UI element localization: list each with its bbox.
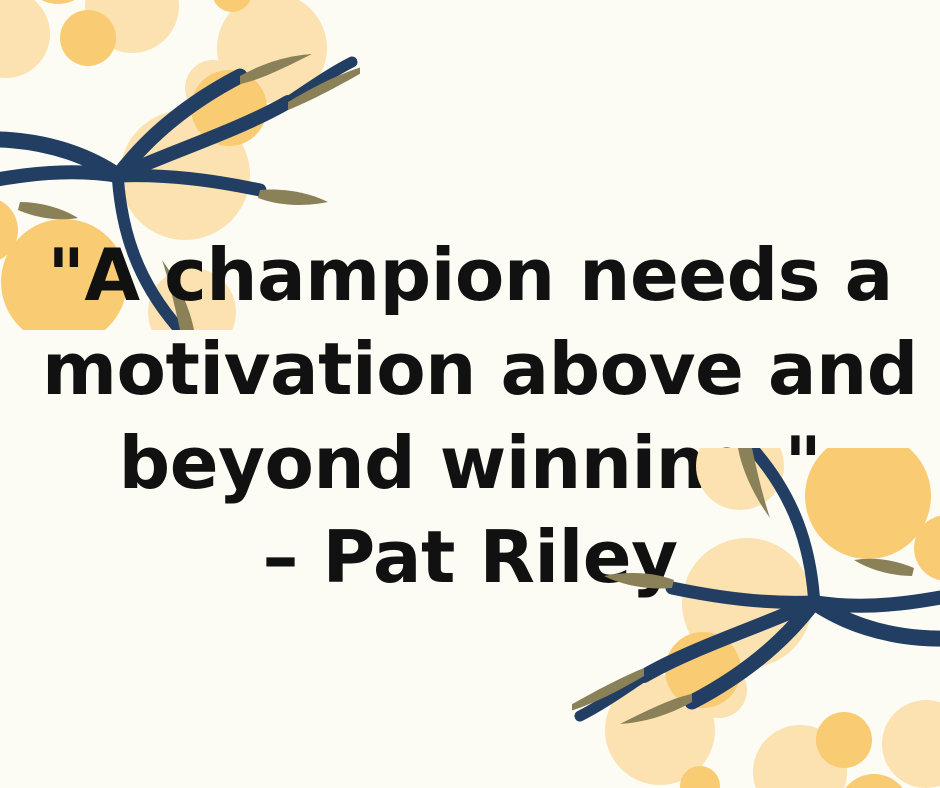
quote-text-block: "A champion needs a motivation above and… [0, 228, 940, 604]
quote-attribution: – Pat Riley [42, 510, 898, 604]
quote-line-2: motivation above and [42, 322, 898, 416]
quote-card: "A champion needs a motivation above and… [0, 0, 940, 788]
quote-line-3: beyond winning." [42, 416, 898, 510]
quote-line-1: "A champion needs a [42, 228, 898, 322]
